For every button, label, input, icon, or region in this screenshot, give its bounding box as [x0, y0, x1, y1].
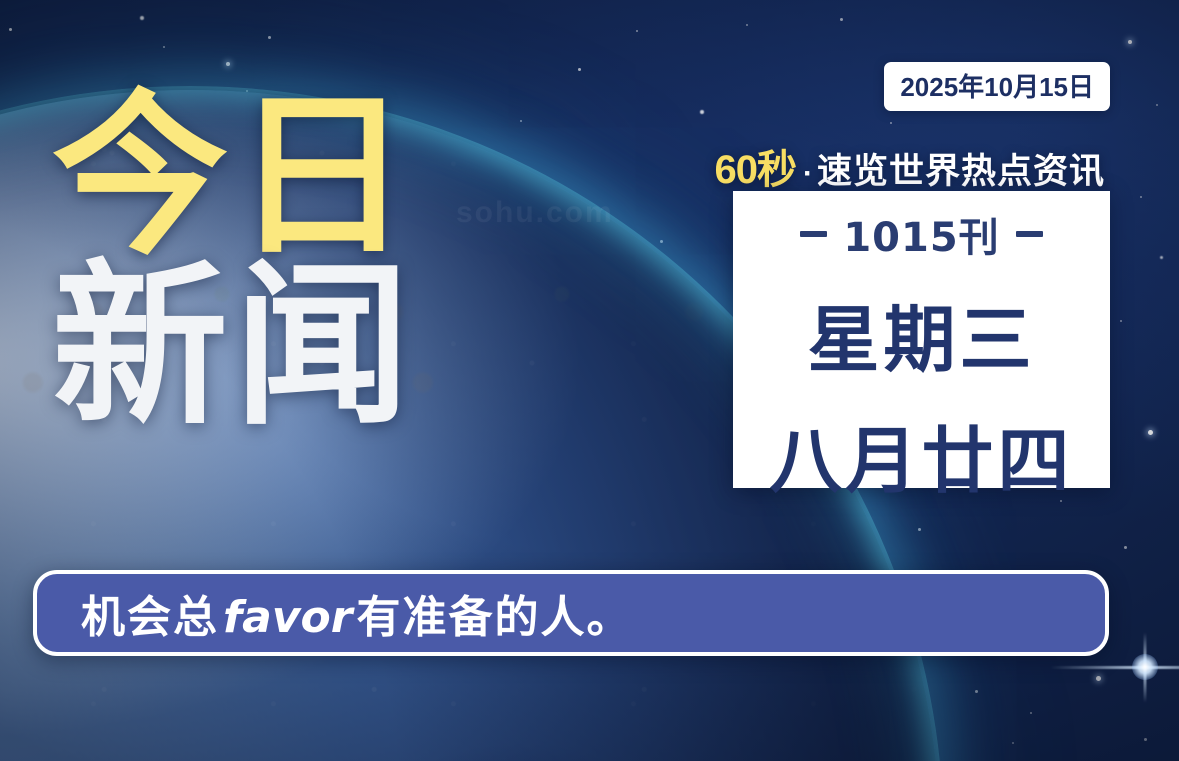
issue-number: 1015刊 — [843, 205, 999, 263]
tagline-separator-dot: · — [803, 157, 813, 190]
issue-dash-left-icon — [800, 231, 827, 237]
title-line-news: 新闻 — [52, 266, 416, 428]
tagline-description: 速览世界热点资讯 — [817, 152, 1105, 191]
tagline-seconds: 60秒 — [714, 148, 796, 192]
quote-text: 机会总favor有准备的人。 — [81, 581, 632, 645]
tagline: 60秒·速览世界热点资讯 — [714, 137, 1105, 195]
quote-part-two: 有准备的人。 — [356, 592, 632, 643]
quote-part-one: 机会总 — [81, 592, 219, 643]
quote-english-word: favor — [219, 592, 356, 643]
lunar-date-label: 八月廿四 — [769, 402, 1073, 507]
issue-number-row: 1015刊 — [800, 205, 1042, 263]
title-line-today: 今日 — [52, 96, 416, 258]
issue-dash-right-icon — [1016, 231, 1043, 237]
quote-banner: 机会总favor有准备的人。 — [33, 570, 1109, 656]
weekday-label: 星期三 — [807, 281, 1035, 386]
news-poster: sohu.com 今日 新闻 2025年10月15日 60秒·速览世界热点资讯 … — [0, 0, 1179, 761]
date-badge: 2025年10月15日 — [884, 62, 1110, 111]
poster-title: 今日 新闻 — [52, 96, 416, 428]
info-card: 1015刊 星期三 八月廿四 — [733, 191, 1110, 488]
